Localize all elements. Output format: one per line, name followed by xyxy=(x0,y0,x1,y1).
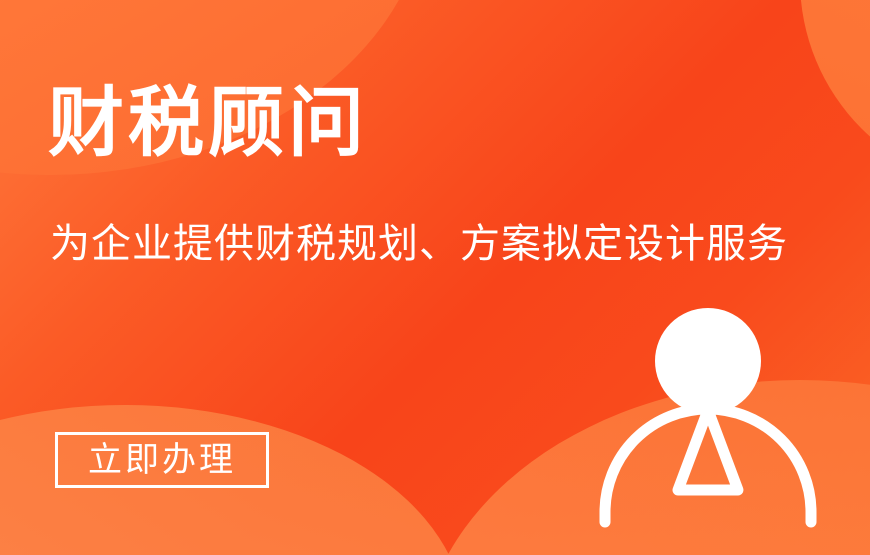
promo-banner: 财税顾问 为企业提供财税规划、方案拟定设计服务 立即办理 xyxy=(0,0,870,555)
banner-subtitle: 为企业提供财税规划、方案拟定设计服务 xyxy=(50,220,788,268)
person-advisor-icon xyxy=(588,300,830,540)
apply-now-button[interactable]: 立即办理 xyxy=(55,432,269,488)
banner-content: 财税顾问 为企业提供财税规划、方案拟定设计服务 立即办理 xyxy=(0,0,870,555)
banner-title: 财税顾问 xyxy=(48,84,368,164)
